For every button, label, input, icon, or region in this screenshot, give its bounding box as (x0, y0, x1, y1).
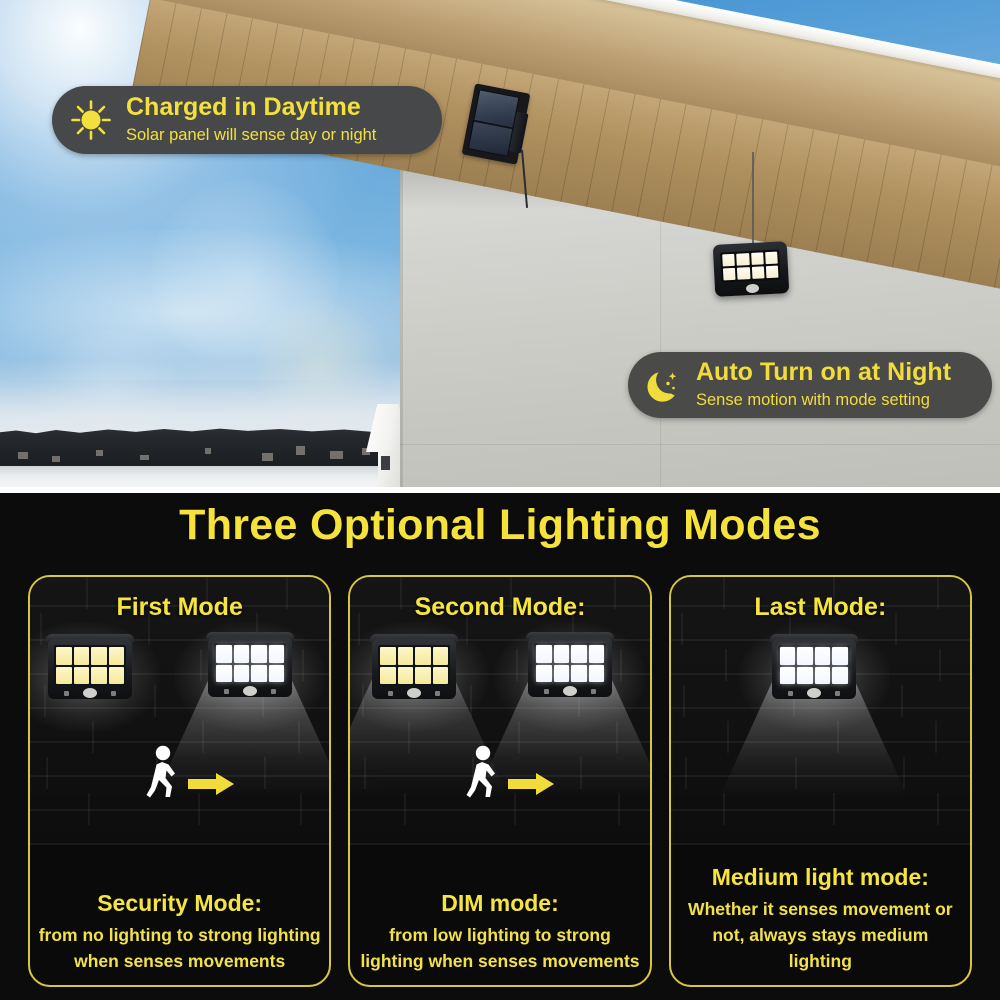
lamp-indicator (271, 689, 276, 694)
card-header: Last Mode: (671, 593, 970, 622)
lamp-indicator (835, 691, 840, 696)
pedestrian-icon (142, 745, 188, 799)
lamp-led-grid (378, 645, 450, 686)
card-description: Security Mode: from no lighting to stron… (30, 890, 329, 975)
badge-auto-turn-on-at-night: Auto Turn on at Night Sense motion with … (628, 352, 992, 418)
arrow-right-icon (508, 773, 554, 795)
lamp-hanging-wire (752, 152, 754, 248)
led-lamp-dim (48, 639, 132, 699)
lamp-led-grid (534, 643, 606, 684)
mode-name: Security Mode: (38, 890, 321, 917)
solar-panel (462, 83, 531, 164)
lamp-indicator (64, 691, 69, 696)
motion-sensor-icon (807, 688, 821, 698)
lamp-led-grid (54, 645, 126, 686)
photo-scene: Charged in Daytime Solar panel will sens… (0, 0, 1000, 487)
led-lamp-bright (528, 637, 612, 697)
arrow-right-icon (188, 773, 234, 795)
led-flood-lamp (713, 241, 790, 297)
badge-title: Auto Turn on at Night (696, 359, 951, 387)
badge-subtitle: Sense motion with mode setting (696, 389, 951, 411)
motion-sensor-icon (83, 688, 97, 698)
lamp-indicator (591, 689, 596, 694)
product-infographic: Charged in Daytime Solar panel will sens… (0, 0, 1000, 1000)
mode-card-second[interactable]: Second Mode: (348, 575, 651, 987)
section-title: Three Optional Lighting Modes (0, 501, 1000, 550)
lamp-indicator (788, 691, 793, 696)
lighting-modes-section: Three Optional Lighting Modes (0, 493, 1000, 1000)
mode-name: Medium light mode: (679, 864, 962, 891)
motion-sensor-icon (243, 686, 257, 696)
motion-sensor-icon (407, 688, 421, 698)
card-header: Second Mode: (350, 593, 649, 622)
mode-cards-container: First Mode (28, 575, 972, 987)
mode-card-last[interactable]: Last Mode: Medium light mode: (669, 575, 972, 987)
lamp-indicator (388, 691, 393, 696)
lamp-indicator (111, 691, 116, 696)
mode-text: Whether it senses movement or not, alway… (679, 897, 962, 975)
card-header: First Mode (30, 593, 329, 622)
mode-card-first[interactable]: First Mode (28, 575, 331, 987)
mode-name: DIM mode: (358, 890, 641, 917)
motion-sensor-icon (563, 686, 577, 696)
mode-text: from low lighting to strong lighting whe… (358, 923, 641, 975)
pedestrian-icon (462, 745, 508, 799)
lamp-indicator (435, 691, 440, 696)
badge-title: Charged in Daytime (126, 94, 376, 122)
badge-subtitle: Solar panel will sense day or night (126, 124, 376, 146)
card-description: Medium light mode: Whether it senses mov… (671, 864, 970, 975)
lamp-led-grid (778, 645, 850, 686)
led-lamp-dim (372, 639, 456, 699)
lamp-indicator (224, 689, 229, 694)
moon-icon (642, 363, 686, 407)
lamp-led-grid (720, 250, 780, 283)
card-description: DIM mode: from low lighting to strong li… (350, 890, 649, 975)
lamp-led-grid (214, 643, 286, 684)
led-lamp-medium (772, 639, 856, 699)
lamp-indicator (544, 689, 549, 694)
mode-text: from no lighting to strong lighting when… (38, 923, 321, 975)
led-lamp-bright (208, 637, 292, 697)
badge-charged-in-daytime: Charged in Daytime Solar panel will sens… (52, 86, 442, 154)
sun-icon (68, 97, 114, 143)
